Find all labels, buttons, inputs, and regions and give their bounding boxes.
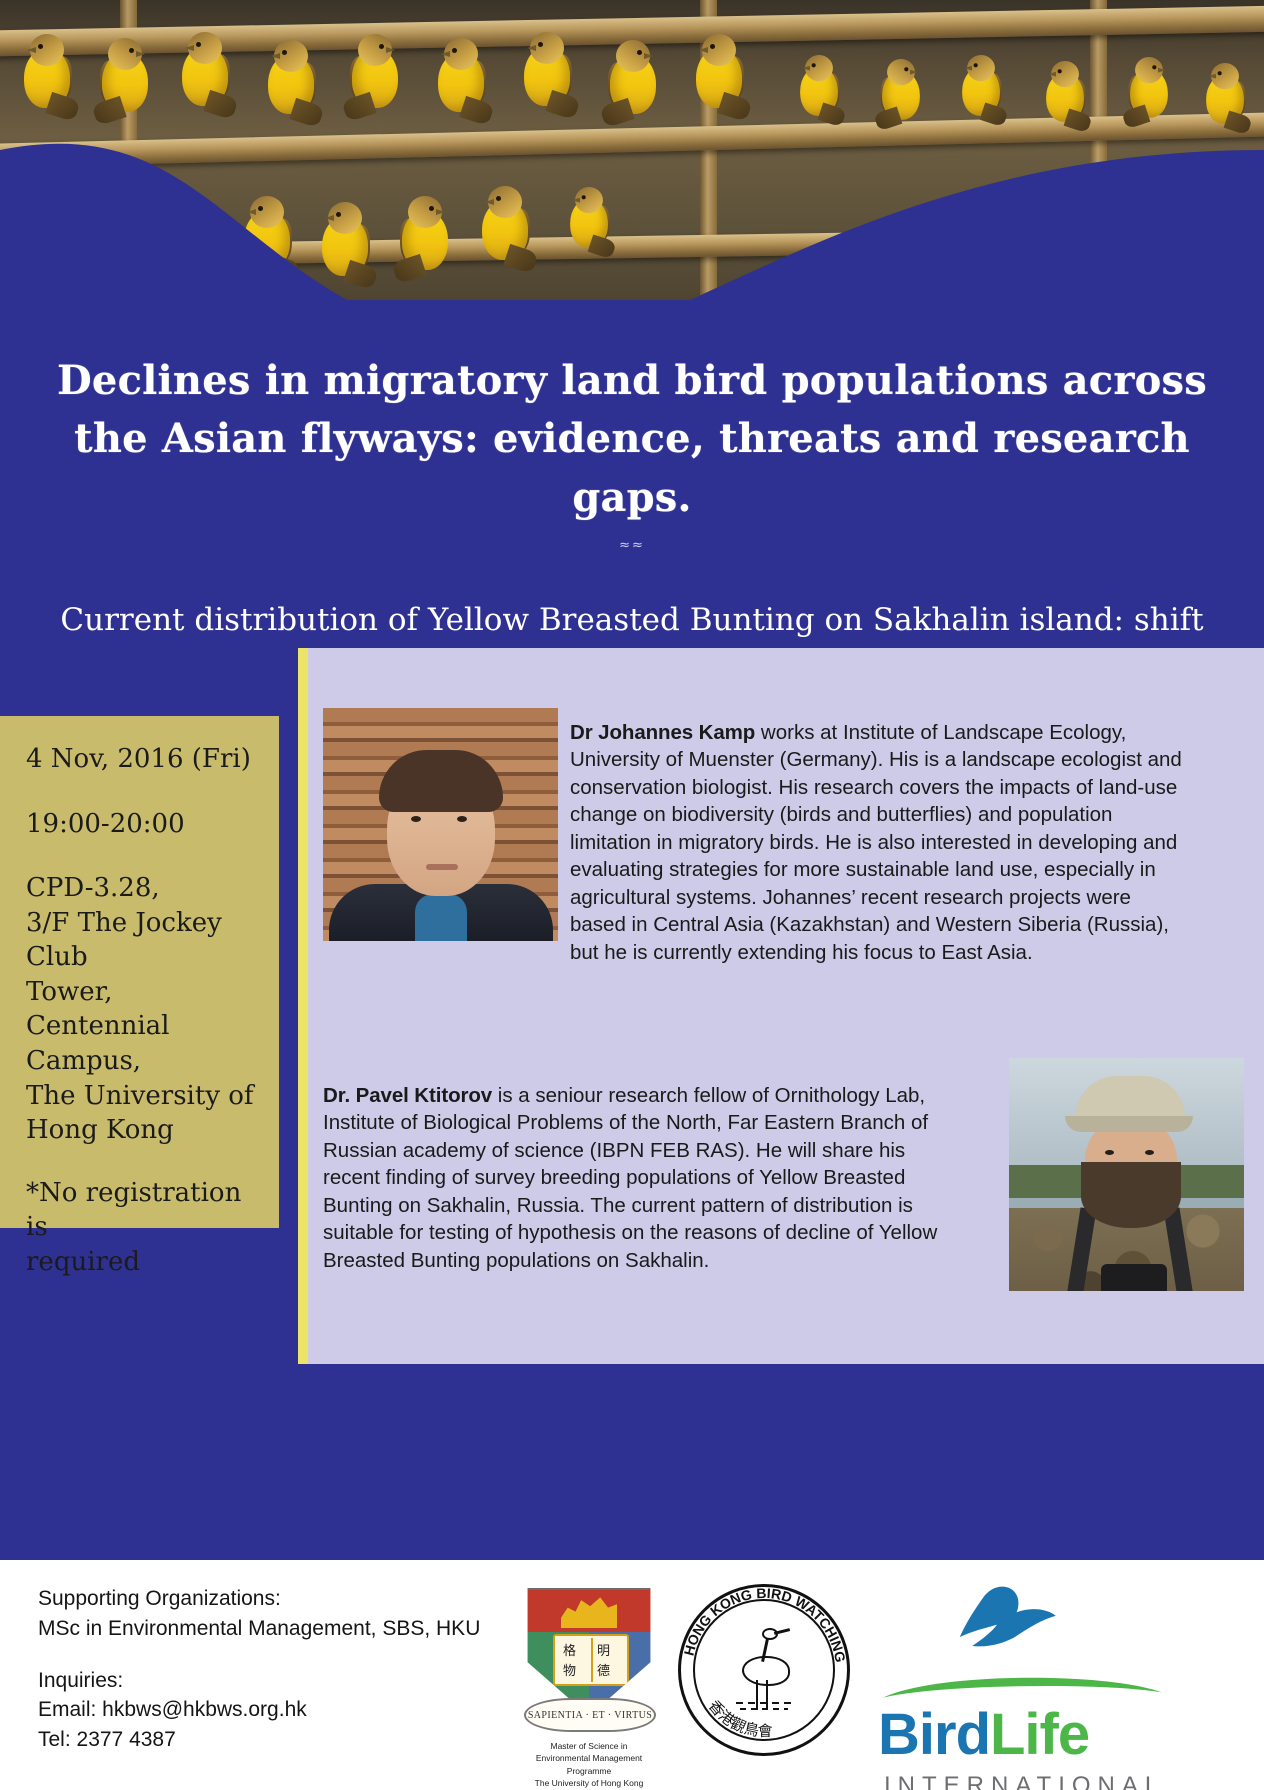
event-date: 4 Nov, 2016 (Fri) bbox=[26, 742, 257, 777]
bunting-bird bbox=[432, 34, 490, 120]
pavel-ktitorov-headshot bbox=[1009, 1058, 1244, 1291]
bunting-bird bbox=[476, 182, 534, 268]
hku-caption: Master of Science in Environmental Manag… bbox=[524, 1740, 654, 1789]
supporting-organizations-value: MSc in Environmental Management, SBS, HK… bbox=[38, 1614, 480, 1644]
hku-caption-line-1: Master of Science in bbox=[524, 1740, 654, 1752]
footer-text-block: Supporting Organizations: MSc in Environ… bbox=[38, 1584, 480, 1755]
bunting-bird bbox=[518, 28, 576, 114]
bunting-bird bbox=[262, 36, 320, 122]
panel-accent-strip bbox=[298, 648, 308, 1364]
bunting-bird bbox=[1201, 60, 1249, 131]
registration-note-line-1: *No registration is bbox=[26, 1176, 257, 1245]
inquiries-email[interactable]: Email: hkbws@hkbws.org.hk bbox=[38, 1695, 480, 1725]
birdlife-subtitle: INTERNATIONAL bbox=[878, 1772, 1248, 1790]
bunting-bird bbox=[604, 36, 662, 122]
footer: Supporting Organizations: MSc in Environ… bbox=[0, 1560, 1264, 1790]
hku-motto-ribbon: SAPIENTIA · ET · VIRTUS bbox=[524, 1698, 656, 1732]
hku-char-bl: 物 bbox=[563, 1660, 576, 1679]
bunting-bird bbox=[565, 184, 613, 255]
birdlife-bird-icon bbox=[878, 1582, 1145, 1662]
poster-root: Declines in migratory land bird populati… bbox=[0, 0, 1264, 1790]
speaker-bio-2: Dr. Pavel Ktitorov is a seniour research… bbox=[323, 1082, 948, 1275]
hkbws-logo: HONG KONG BIRD WATCHING SOCIETY 香港觀鳥會 bbox=[678, 1584, 850, 1756]
bamboo-post bbox=[1090, 0, 1107, 340]
header-bird-photo bbox=[0, 0, 1264, 340]
bunting-bird bbox=[957, 52, 1005, 123]
egret-icon bbox=[734, 1628, 794, 1714]
speaker-1-bio-text: works at Institute of Landscape Ecology,… bbox=[570, 721, 1182, 965]
event-venue-line-6: Hong Kong bbox=[26, 1113, 257, 1148]
birdlife-word-bird: Bird bbox=[878, 1702, 990, 1767]
birdlife-wordmark: BirdLife bbox=[878, 1706, 1248, 1764]
johannes-kamp-headshot bbox=[323, 708, 558, 941]
hku-char-tr: 明 bbox=[597, 1640, 610, 1659]
hku-caption-line-2: Environmental Management Programme bbox=[524, 1752, 654, 1777]
registration-note-line-2: required bbox=[26, 1245, 257, 1280]
title-block: Declines in migratory land bird populati… bbox=[0, 352, 1264, 690]
bunting-bird bbox=[346, 30, 404, 116]
event-venue-line-5: The University of bbox=[26, 1079, 257, 1114]
bamboo-perch bbox=[0, 226, 1264, 269]
speaker-2-name: Dr. Pavel Ktitorov bbox=[323, 1084, 492, 1107]
supporting-organizations-label: Supporting Organizations: bbox=[38, 1584, 480, 1614]
page-title: Declines in migratory land bird populati… bbox=[0, 352, 1264, 527]
bunting-bird bbox=[1041, 58, 1089, 129]
bunting-bird bbox=[80, 180, 138, 266]
hku-shield-icon: 格 明 物 德 bbox=[525, 1588, 653, 1716]
bunting-bird bbox=[96, 34, 154, 120]
logo-row: 格 明 物 德 SAPIENTIA · ET · VIRTUS Master o… bbox=[500, 1572, 1260, 1782]
event-venue-line-4: Centennial Campus, bbox=[26, 1009, 257, 1078]
bunting-bird bbox=[795, 52, 843, 123]
bunting-bird bbox=[316, 198, 374, 284]
event-venue-line-1: CPD-3.28, bbox=[26, 871, 257, 906]
hku-char-br: 德 bbox=[597, 1660, 610, 1679]
birdlife-international-logo: BirdLife INTERNATIONAL bbox=[878, 1582, 1248, 1790]
birdlife-arc-icon bbox=[878, 1667, 1167, 1701]
hku-motto-text: SAPIENTIA · ET · VIRTUS bbox=[528, 1710, 652, 1721]
hku-char-tl: 格 bbox=[563, 1640, 576, 1659]
speaker-1-name: Dr Johannes Kamp bbox=[570, 721, 755, 744]
hku-caption-line-3: The University of Hong Kong bbox=[524, 1777, 654, 1789]
event-details-panel: 4 Nov, 2016 (Fri) 19:00-20:00 CPD-3.28, … bbox=[0, 716, 279, 1228]
title-separator-mark: ≈≈ bbox=[611, 541, 653, 551]
bunting-bird bbox=[690, 30, 748, 116]
bunting-bird bbox=[877, 56, 925, 127]
event-venue-line-3: Tower, bbox=[26, 975, 257, 1010]
hku-logo: 格 明 物 德 SAPIENTIA · ET · VIRTUS Master o… bbox=[524, 1588, 654, 1789]
bunting-bird bbox=[176, 28, 234, 114]
speaker-2-bio-text: is a seniour research fellow of Ornithol… bbox=[323, 1084, 937, 1272]
event-venue-line-2: 3/F The Jockey Club bbox=[26, 906, 257, 975]
bunting-bird bbox=[18, 30, 76, 116]
inquiries-tel: Tel: 2377 4387 bbox=[38, 1725, 480, 1755]
bunting-bird bbox=[1125, 54, 1173, 125]
bunting-bird bbox=[238, 192, 296, 278]
bunting-bird bbox=[396, 192, 454, 278]
speakers-panel: Dr Johannes Kamp works at Institute of L… bbox=[298, 648, 1264, 1364]
speaker-bio-1: Dr Johannes Kamp works at Institute of L… bbox=[570, 719, 1190, 967]
inquiries-label: Inquiries: bbox=[38, 1666, 480, 1696]
bird-photo-background bbox=[0, 0, 1264, 340]
event-time: 19:00-20:00 bbox=[26, 807, 257, 842]
birdlife-word-life: Life bbox=[990, 1702, 1089, 1767]
